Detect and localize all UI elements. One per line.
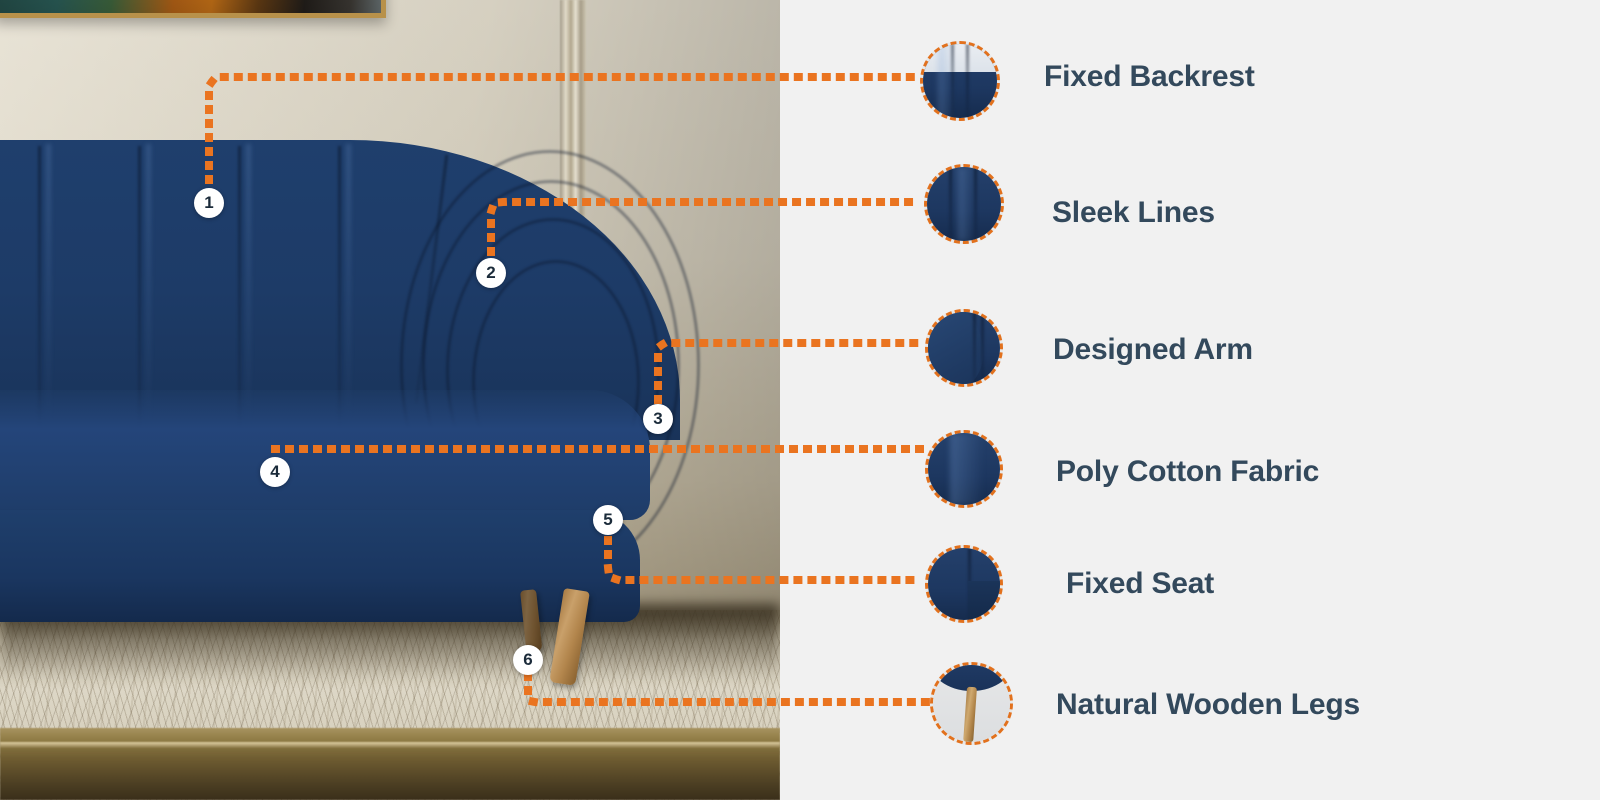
number-badge-6[interactable]: 6 bbox=[513, 645, 543, 675]
thumb-natural-wooden-legs[interactable] bbox=[930, 662, 1013, 745]
framed-wall-art bbox=[0, 0, 386, 18]
number-badge-5[interactable]: 5 bbox=[593, 505, 623, 535]
thumb-sleek-lines[interactable] bbox=[924, 164, 1004, 244]
infographic-stage: Fixed BackrestSleek LinesDesigned ArmPol… bbox=[0, 0, 1600, 800]
number-badge-2[interactable]: 2 bbox=[476, 258, 506, 288]
feature-label-6: Natural Wooden Legs bbox=[1056, 688, 1360, 722]
thumb-poly-cotton-fabric[interactable] bbox=[925, 430, 1003, 508]
feature-label-1: Fixed Backrest bbox=[1044, 60, 1255, 94]
baseboard bbox=[0, 728, 780, 800]
feature-label-2: Sleek Lines bbox=[1052, 196, 1215, 230]
number-badge-3[interactable]: 3 bbox=[643, 404, 673, 434]
feature-label-5: Fixed Seat bbox=[1066, 567, 1214, 601]
feature-label-3: Designed Arm bbox=[1053, 333, 1253, 367]
feature-panel bbox=[780, 0, 1600, 800]
sofa-base bbox=[0, 510, 640, 622]
baseboard-highlight bbox=[0, 742, 780, 748]
thumb-fixed-seat[interactable] bbox=[925, 545, 1003, 623]
sofa-seat-cushion bbox=[0, 390, 650, 520]
number-badge-4[interactable]: 4 bbox=[260, 457, 290, 487]
thumb-designed-arm[interactable] bbox=[925, 309, 1003, 387]
sofa bbox=[0, 140, 720, 660]
thumb-fixed-backrest[interactable] bbox=[920, 41, 1000, 121]
product-photo bbox=[0, 0, 780, 800]
feature-label-4: Poly Cotton Fabric bbox=[1056, 455, 1319, 489]
number-badge-1[interactable]: 1 bbox=[194, 188, 224, 218]
